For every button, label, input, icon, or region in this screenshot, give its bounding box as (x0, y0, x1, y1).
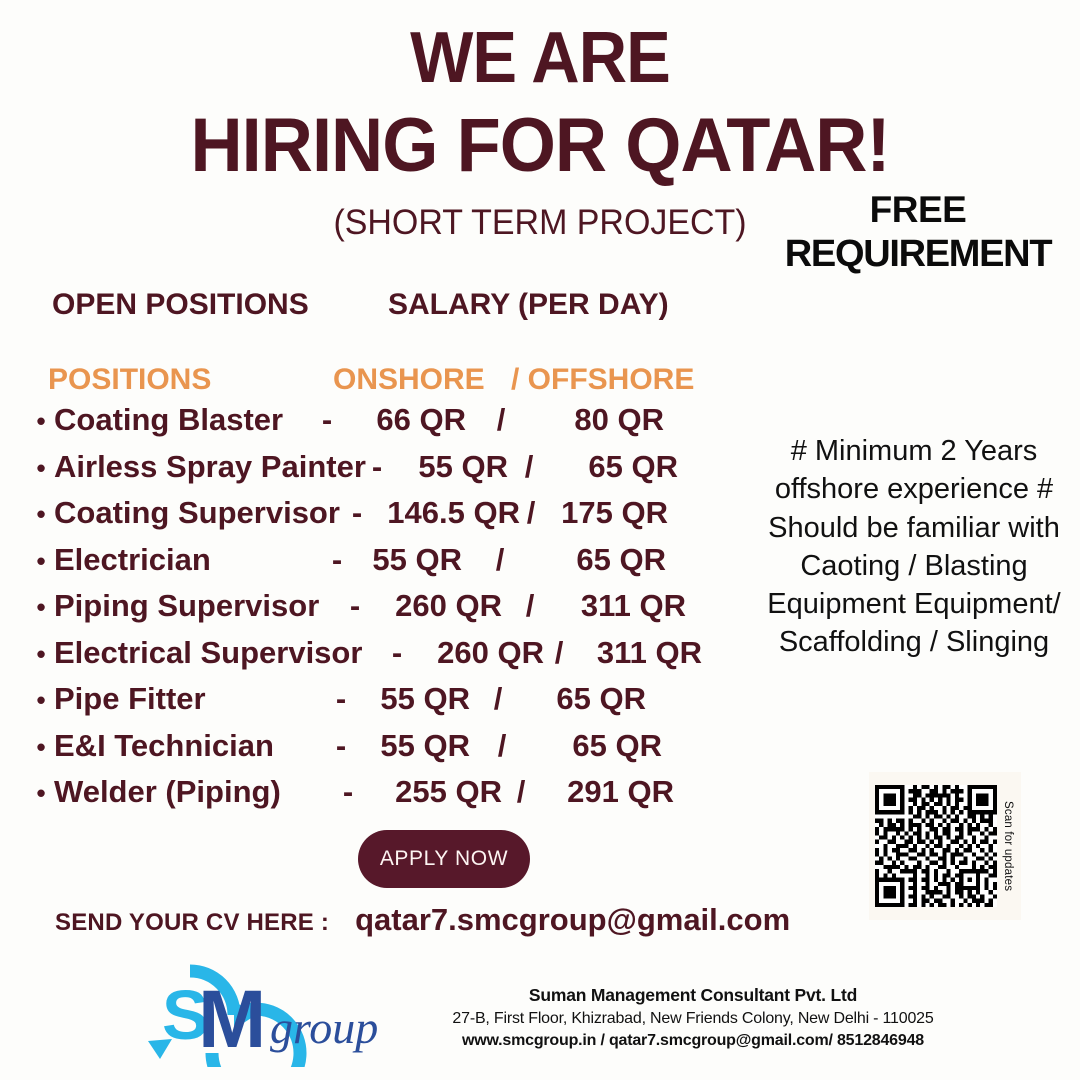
job-dash: - (322, 542, 352, 578)
job-offshore-salary: 311 QR (558, 588, 686, 624)
job-slash: / (462, 542, 538, 578)
page-title-line2: HIRING FOR QATAR! (27, 108, 1053, 184)
free-requirement-line2: REQUIREMENT (758, 232, 1078, 277)
job-title: Coating Supervisor (54, 495, 344, 531)
table-header-primary: OPEN POSITIONS SALARY (PER DAY) (52, 288, 752, 322)
job-dash: - (384, 635, 410, 671)
job-offshore-salary: 311 QR (574, 635, 702, 671)
bullet-icon: • (28, 501, 54, 527)
free-requirement-line1: FREE (870, 189, 967, 230)
qr-code-block[interactable]: Scan for updates (869, 772, 1021, 920)
qr-code-label: Scan for updates (1002, 801, 1014, 891)
job-title: E&I Technician (54, 728, 322, 764)
job-onshore-salary: 260 QR (368, 588, 502, 624)
header-onshore: ONSHORE (333, 363, 511, 397)
job-dash: - (326, 774, 370, 810)
job-title: Electrical Supervisor (54, 635, 384, 671)
job-dash: - (322, 681, 360, 717)
job-onshore-salary: 55 QR (360, 681, 470, 717)
job-offshore-salary: 65 QR (526, 681, 646, 717)
job-offshore-salary: 80 QR (536, 402, 664, 438)
header-positions: POSITIONS (48, 363, 333, 397)
job-title: Pipe Fitter (54, 681, 322, 717)
list-item: • Welder (Piping) - 255 QR / 291 QR (28, 774, 768, 821)
company-name: Suman Management Consultant Pvt. Ltd (378, 985, 1008, 1006)
header-salary: SALARY (PER DAY) (388, 288, 669, 322)
job-offshore-salary: 175 QR (542, 495, 668, 531)
job-dash: - (322, 728, 360, 764)
requirements-text: # Minimum 2 Years offshore experience # … (756, 432, 1072, 662)
job-onshore-salary: 55 QR (360, 728, 470, 764)
list-item: • Pipe Fitter - 55 QR / 65 QR (28, 681, 768, 728)
page-title-line1: WE ARE (38, 22, 1042, 94)
list-item: • E&I Technician - 55 QR / 65 QR (28, 728, 768, 775)
bullet-icon: • (28, 455, 54, 481)
free-requirement-block: FREE REQUIREMENT (758, 188, 1078, 276)
job-poster: WE ARE HIRING FOR QATAR! (SHORT TERM PRO… (0, 0, 1080, 1080)
bullet-icon: • (28, 594, 54, 620)
list-item: • Coating Blaster - 66 QR / 80 QR (28, 402, 768, 449)
job-onshore-salary: 146.5 QR (370, 495, 520, 531)
job-onshore-salary: 255 QR (370, 774, 502, 810)
job-dash: - (306, 402, 348, 438)
job-offshore-salary: 65 QR (534, 728, 662, 764)
job-onshore-salary: 66 QR (348, 402, 466, 438)
send-cv-label: SEND YOUR CV HERE : (55, 909, 329, 937)
list-item: • Piping Supervisor - 260 QR / 311 QR (28, 588, 768, 635)
job-title: Welder (Piping) (54, 774, 326, 810)
bullet-icon: • (28, 408, 54, 434)
job-slash: / (502, 774, 540, 810)
company-logo: S M group (138, 963, 386, 1067)
job-offshore-salary: 65 QR (538, 542, 666, 578)
job-slash: / (502, 588, 558, 624)
job-slash: / (470, 681, 526, 717)
job-slash: / (520, 495, 542, 531)
header-open-positions: OPEN POSITIONS (52, 288, 388, 322)
bullet-icon: • (28, 734, 54, 760)
header-offshore: / OFFSHORE (511, 363, 694, 397)
apply-now-button[interactable]: APPLY NOW (358, 830, 530, 888)
job-offshore-salary: 291 QR (540, 774, 674, 810)
bullet-icon: • (28, 641, 54, 667)
bullet-icon: • (28, 548, 54, 574)
job-dash: - (364, 449, 390, 485)
job-title: Electrician (54, 542, 322, 578)
job-onshore-salary: 55 QR (352, 542, 462, 578)
logo-letter-m: M (198, 974, 266, 1065)
list-item: • Electrician - 55 QR / 65 QR (28, 542, 768, 589)
company-address: 27-B, First Floor, Khizrabad, New Friend… (378, 1010, 1008, 1028)
logo-word-group: group (270, 1002, 378, 1053)
company-footer: Suman Management Consultant Pvt. Ltd 27-… (378, 985, 1008, 1050)
job-title: Airless Spray Painter (54, 449, 364, 485)
list-item: • Coating Supervisor - 146.5 QR / 175 QR (28, 495, 768, 542)
bullet-icon: • (28, 687, 54, 713)
job-slash: / (508, 449, 550, 485)
job-list: • Coating Blaster - 66 QR / 80 QR • Airl… (28, 402, 768, 821)
list-item: • Airless Spray Painter - 55 QR / 65 QR (28, 449, 768, 496)
job-offshore-salary: 65 QR (550, 449, 678, 485)
job-title: Coating Blaster (54, 402, 306, 438)
qr-code-icon[interactable] (875, 785, 997, 907)
list-item: • Electrical Supervisor - 260 QR / 311 Q… (28, 635, 768, 682)
bullet-icon: • (28, 780, 54, 806)
job-onshore-salary: 55 QR (390, 449, 508, 485)
job-slash: / (544, 635, 574, 671)
job-slash: / (466, 402, 536, 438)
company-contact-line: www.smcgroup.in / qatar7.smcgroup@gmail.… (378, 1032, 1008, 1050)
job-title: Piping Supervisor (54, 588, 342, 624)
job-dash: - (344, 495, 370, 531)
contact-email[interactable]: qatar7.smcgroup@gmail.com (355, 902, 790, 938)
job-dash: - (342, 588, 368, 624)
job-onshore-salary: 260 QR (410, 635, 544, 671)
send-cv-block: SEND YOUR CV HERE : qatar7.smcgroup@gmai… (55, 902, 790, 938)
job-slash: / (470, 728, 534, 764)
table-header-secondary: POSITIONS ONSHORE / OFFSHORE (48, 363, 748, 397)
